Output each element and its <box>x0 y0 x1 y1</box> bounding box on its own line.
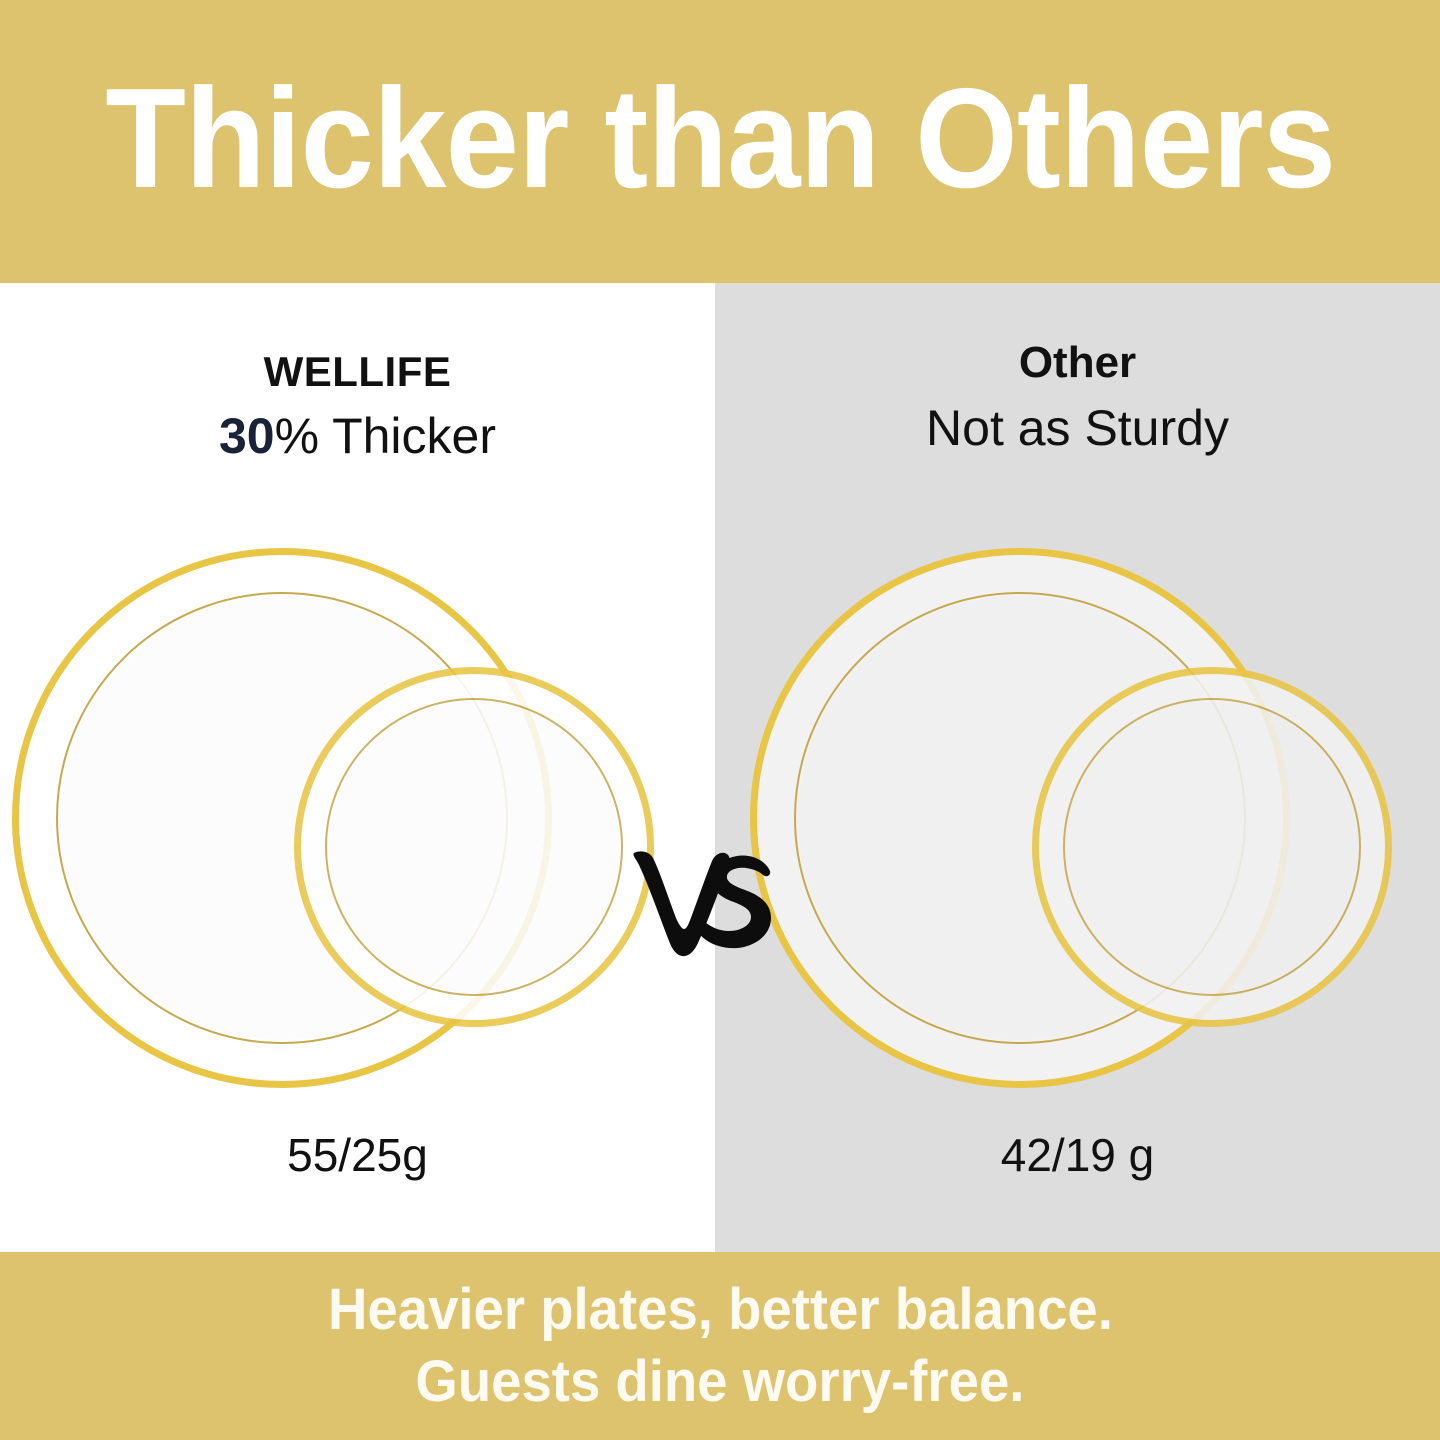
other-salad-plate <box>1032 667 1392 1027</box>
wellife-weight-label: 55/25g <box>0 1128 715 1182</box>
page-title: Thicker than Others <box>105 68 1335 210</box>
bottom-gold-banner: Heavier plates, better balance. Guests d… <box>0 1252 1440 1440</box>
wellife-salad-plate <box>294 667 654 1027</box>
top-gold-banner: Thicker than Others <box>0 0 1440 283</box>
wellife-claim-number: 30 <box>219 408 275 464</box>
product-comparison-infographic: Thicker than Others WELLIFE 30% Thicker … <box>0 0 1440 1440</box>
other-brand-label: Other <box>715 339 1440 387</box>
panel-other: Other Not as Sturdy 42/19 g <box>715 283 1440 1252</box>
wellife-claim-label: 30% Thicker <box>0 409 715 464</box>
footer-line-1: Heavier plates, better balance. <box>328 1274 1113 1347</box>
other-claim-label: Not as Sturdy <box>715 401 1440 456</box>
plate-inner-gold-ring <box>325 698 623 996</box>
other-heading: Other Not as Sturdy <box>715 339 1440 456</box>
wellife-claim-rest: % Thicker <box>275 408 496 464</box>
plate-inner-gold-ring <box>1063 698 1361 996</box>
wellife-brand-label: WELLIFE <box>0 349 715 395</box>
wellife-heading: WELLIFE 30% Thicker <box>0 349 715 464</box>
other-weight-label: 42/19 g <box>715 1128 1440 1182</box>
panel-wellife: WELLIFE 30% Thicker 55/25g <box>0 283 715 1252</box>
footer-line-2: Guests dine worry-free. <box>415 1346 1024 1419</box>
comparison-area: WELLIFE 30% Thicker 55/25g Other Not as … <box>0 283 1440 1252</box>
